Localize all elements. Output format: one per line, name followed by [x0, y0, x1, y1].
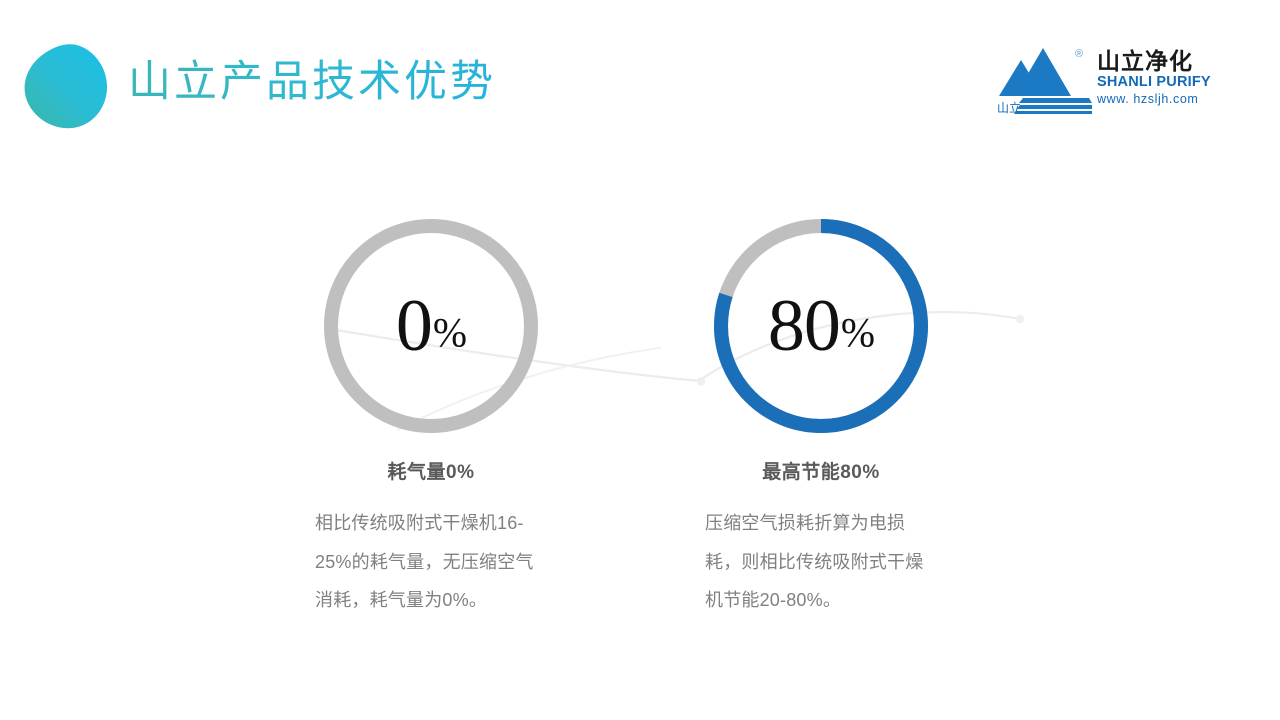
stat-body-1: 压缩空气损耗折算为电损耗，则相比传统吸附式干燥机节能20-80%。 [705, 504, 937, 620]
logo-company-name-cn: 山立净化 [1097, 49, 1225, 73]
donut-percent-symbol-0: % [433, 312, 467, 353]
donut-center-label-1: 80% [713, 218, 929, 434]
donut-center-label-0: 0% [323, 218, 539, 434]
company-logo: 山立 ® 山立净化 SHANLI PURIFY www. hzsljh.com [997, 44, 1222, 122]
svg-text:山立: 山立 [997, 100, 1021, 115]
donut-value-1: 80 [768, 289, 840, 363]
logo-text-block: 山立净化 SHANLI PURIFY www. hzsljh.com [1097, 49, 1225, 106]
slide-canvas: 山立产品技术优势 山立 ® 山立净化 SHANLI PURIFY www. hz… [0, 0, 1280, 720]
donut-chart-1: 80% [713, 218, 929, 434]
logo-website-url: www. hzsljh.com [1097, 92, 1225, 106]
donut-value-0: 0 [396, 289, 432, 363]
blob-shape-icon [24, 43, 108, 129]
stat-block-energy-saving: 80% 最高节能80% 压缩空气损耗折算为电损耗，则相比传统吸附式干燥机节能20… [671, 218, 971, 620]
stat-block-consumption: 0% 耗气量0% 相比传统吸附式干燥机16-25%的耗气量，无压缩空气消耗，耗气… [281, 218, 581, 620]
svg-text:®: ® [1075, 48, 1083, 60]
donut-percent-symbol-1: % [841, 312, 875, 353]
stat-body-0: 相比传统吸附式干燥机16-25%的耗气量，无压缩空气消耗，耗气量为0%。 [315, 504, 547, 620]
stat-heading-0: 耗气量0% [281, 457, 581, 484]
page-title: 山立产品技术优势 [128, 57, 496, 109]
donut-chart-0: 0% [323, 218, 539, 434]
logo-company-name-en: SHANLI PURIFY [1097, 74, 1225, 91]
stat-heading-1: 最高节能80% [671, 457, 971, 484]
shanli-mountain-logo-icon: 山立 ® [997, 44, 1093, 116]
